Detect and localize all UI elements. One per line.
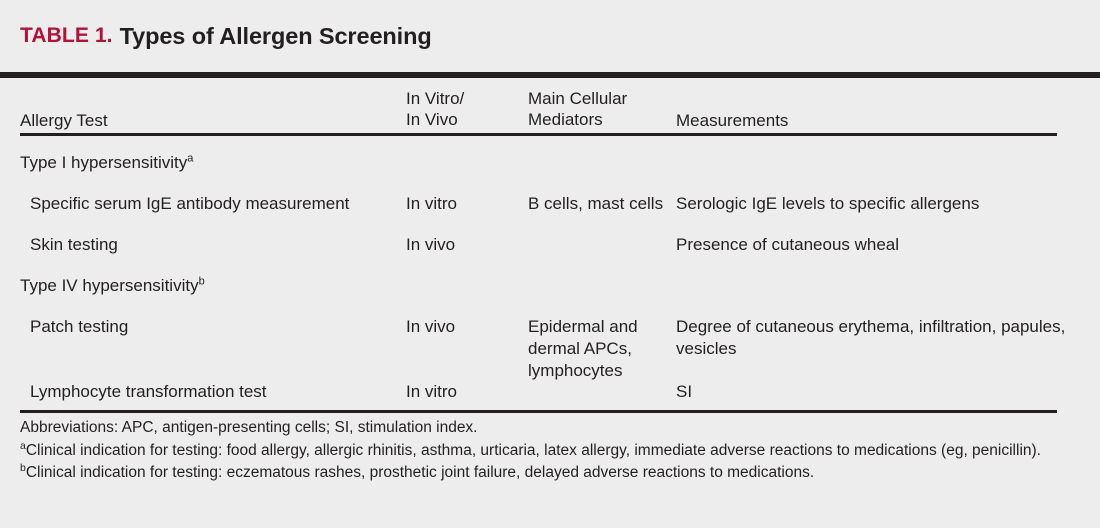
rule-top [0,72,1100,78]
column-header-in-vitro-in-vivo: In Vitro/ In Vivo [406,88,524,130]
column-header-main-cellular-mediators: Main Cellular Mediators [528,88,670,130]
column-header-in-vitro-line: In Vitro/ [406,88,524,109]
footnote-a-text: Clinical indication for testing: food al… [26,442,1041,459]
table-cell-route: In vitro [406,381,524,403]
table-cell-route: In vivo [406,316,524,338]
section-heading-type-1-text: Type I hypersensitivity [20,153,187,172]
table-footnotes: Abbreviations: APC, antigen-presenting c… [20,417,1065,485]
section-heading-type-4-marker: b [199,275,205,287]
table-title-band: TABLE 1. Types of Allergen Screening [0,0,1100,72]
table-row: Specific serum IgE antibody measurement [30,193,410,215]
column-header-measurements: Measurements [676,110,1076,131]
table-row: Lymphocyte transformation test [30,381,410,403]
footnote-b: bClinical indication for testing: eczema… [20,462,1065,485]
table-cell-route: In vivo [406,234,524,256]
footnote-abbreviations: Abbreviations: APC, antigen-presenting c… [20,417,1065,440]
table-figure: TABLE 1. Types of Allergen Screening All… [0,0,1100,528]
column-header-allergy-test: Allergy Test [20,110,400,131]
column-header-in-vivo-line: In Vivo [406,109,524,130]
table-cell-measurement: Presence of cutaneous wheal [676,234,1076,256]
rule-header-underline [20,133,1057,136]
table-cell-measurement: Degree of cutaneous erythema, infiltrati… [676,316,1076,360]
column-header-mediators-line2: Mediators [528,109,670,130]
table-cell-route: In vitro [406,193,524,215]
table-row: Patch testing [30,316,410,338]
table-cell-measurement: Serologic IgE levels to specific allerge… [676,193,1076,215]
section-heading-type-4-text: Type IV hypersensitivity [20,276,199,295]
footnote-a: aClinical indication for testing: food a… [20,440,1065,463]
table-title: Types of Allergen Screening [120,23,432,50]
section-heading-type-1: Type I hypersensitivitya [20,152,400,174]
table-number-label: TABLE 1. [20,24,113,48]
rule-bottom [20,410,1057,413]
table-row: Skin testing [30,234,410,256]
table-cell-mediators: Epidermal and dermal APCs, lymphocytes [528,316,670,382]
section-heading-type-4: Type IV hypersensitivityb [20,275,400,297]
column-header-mediators-line1: Main Cellular [528,88,670,109]
section-heading-type-1-marker: a [187,152,193,164]
footnote-b-text: Clinical indication for testing: eczemat… [26,464,814,481]
table-cell-measurement: SI [676,381,1076,403]
table-cell-mediators: B cells, mast cells [528,193,670,215]
